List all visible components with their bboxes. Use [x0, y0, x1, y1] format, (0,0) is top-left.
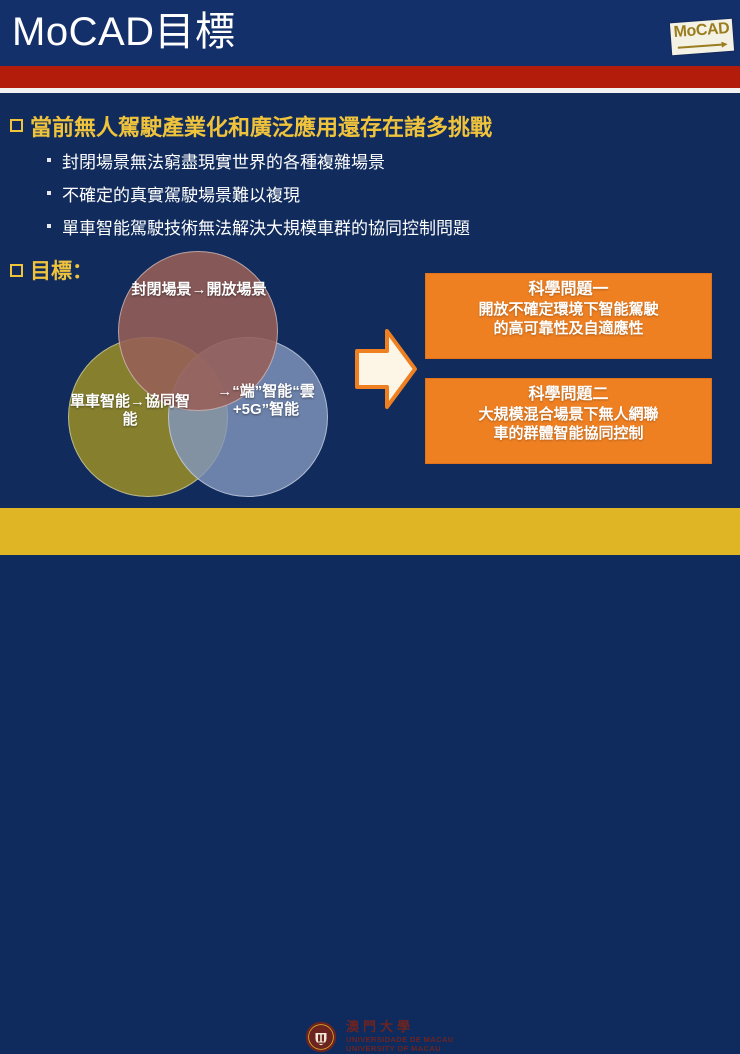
block-arrow-right-icon: [353, 325, 419, 413]
venn-label-top: 封閉場景→開放場景: [128, 281, 270, 299]
university-branding: 澳門大學 UNIVERSIDADE DE MACAU UNIVERSITY OF…: [305, 1020, 454, 1054]
bullet-item-1-label: 封閉場景無法窮盡現實世界的各種複雜場景: [62, 148, 385, 173]
science-question-box-1: 科學問題一 開放不確定環境下智能駕駛 的高可靠性及自適應性: [425, 273, 712, 359]
section-heading-challenges-label: 當前無人駕駛產業化和廣泛應用還存在諸多挑戰: [30, 110, 492, 142]
university-name-cn: 澳門大學: [346, 1020, 454, 1034]
science-question-box-1-line1: 開放不確定環境下智能駕駛: [434, 301, 703, 320]
science-question-box-2-line2: 車的群體智能協同控制: [434, 425, 703, 444]
science-question-box-1-title: 科學問題一: [434, 280, 703, 300]
science-question-box-1-line2: 的高可靠性及自適應性: [434, 320, 703, 339]
page-title: MoCAD目標: [12, 8, 236, 56]
university-name-block: 澳門大學 UNIVERSIDADE DE MACAU UNIVERSITY OF…: [346, 1020, 454, 1053]
bullet-item-3-label: 單車智能駕駛技術無法解決大規模車群的協同控制問題: [62, 214, 470, 239]
square-bullet-icon: [10, 264, 23, 277]
university-name-en: UNIVERSITY OF MACAU: [346, 1044, 454, 1053]
slide-root: MoCAD目標 MoCAD 當前無人駕駛產業化和廣泛應用還存在諸多挑戰 封閉場景…: [0, 0, 740, 555]
square-bullet-icon: [10, 119, 23, 132]
mocad-logo: MoCAD: [670, 19, 734, 55]
science-question-box-2-line1: 大規模混合場景下無人網聯: [434, 406, 703, 425]
venn-label-left: 單車智能→協同智能: [70, 393, 190, 430]
university-crest-icon: [305, 1020, 337, 1054]
dot-bullet-icon: [47, 224, 51, 228]
arrow-right-icon: [678, 41, 728, 51]
bullet-item-1: 封閉場景無法窮盡現實世界的各種複雜場景: [47, 148, 385, 173]
science-question-box-2: 科學問題二 大規模混合場景下無人網聯 車的群體智能協同控制: [425, 378, 712, 464]
university-name-pt: UNIVERSIDADE DE MACAU: [346, 1035, 454, 1044]
bullet-item-2: 不確定的真實駕駛場景難以複現: [47, 181, 300, 206]
bullet-item-2-label: 不確定的真實駕駛場景難以複現: [62, 181, 300, 206]
mocad-logo-text: MoCAD: [670, 20, 733, 42]
section-heading-challenges: 當前無人駕駛產業化和廣泛應用還存在諸多挑戰: [10, 110, 492, 142]
dot-bullet-icon: [47, 191, 51, 195]
slide-header: MoCAD目標 MoCAD: [0, 0, 740, 66]
header-red-band: [0, 66, 740, 88]
slide-body: 當前無人駕駛產業化和廣泛應用還存在諸多挑戰 封閉場景無法窮盡現實世界的各種複雜場…: [0, 93, 740, 508]
science-question-box-2-title: 科學問題二: [434, 385, 703, 405]
dot-bullet-icon: [47, 158, 51, 162]
bullet-item-3: 單車智能駕駛技術無法解決大規模車群的協同控制問題: [47, 214, 470, 239]
venn-diagram: 封閉場景→開放場景 單車智能→協同智能 →“端”智能“雲+5G”智能: [62, 251, 352, 501]
venn-label-right: →“端”智能“雲+5G”智能: [202, 383, 330, 420]
slide-footer: 澳門大學 UNIVERSIDADE DE MACAU UNIVERSITY OF…: [0, 508, 740, 555]
